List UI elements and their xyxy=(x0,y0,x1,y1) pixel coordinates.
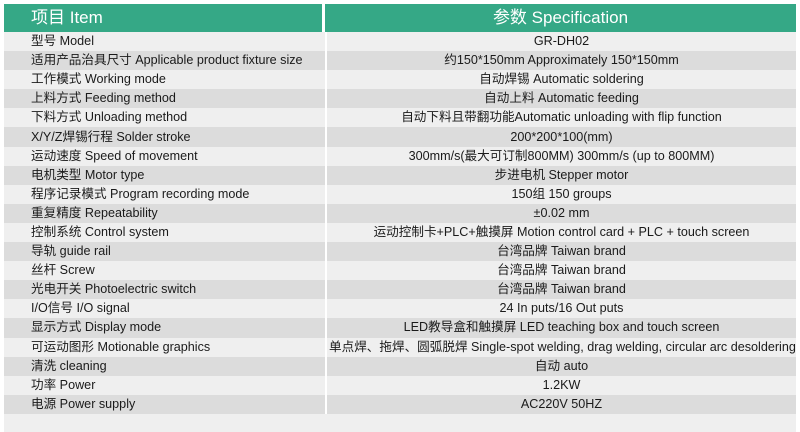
table-header-row: 项目 Item 参数 Specification xyxy=(4,4,796,32)
cell-specification: 步进电机 Stepper motor xyxy=(327,166,796,185)
cell-specification: 1.2KW xyxy=(327,376,796,395)
cell-item: 电机类型 Motor type xyxy=(4,166,325,185)
cell-item: 光电开关 Photoelectric switch xyxy=(4,280,325,299)
cell-specification: 自动 auto xyxy=(327,357,796,376)
column-header-specification: 参数 Specification xyxy=(325,4,796,32)
cell-item: 适用产品治具尺寸 Applicable product fixture size xyxy=(4,51,325,70)
cell-specification: 台湾品牌 Taiwan brand xyxy=(327,242,796,261)
cell-specification: 300mm/s(最大可订制800MM) 300mm/s (up to 800MM… xyxy=(327,147,796,166)
column-header-item: 项目 Item xyxy=(4,4,322,32)
cell-item: 运动速度 Speed of movement xyxy=(4,147,325,166)
table-row: 运动速度 Speed of movement300mm/s(最大可订制800MM… xyxy=(4,147,796,166)
cell-specification: 单点焊、拖焊、圆弧脱焊 Single-spot welding, drag we… xyxy=(327,338,796,357)
table-row: 显示方式 Display modeLED教导盒和触摸屏 LED teaching… xyxy=(4,318,796,337)
table-row: 功率 Power1.2KW xyxy=(4,376,796,395)
table-row: 程序记录模式 Program recording mode150组 150 gr… xyxy=(4,185,796,204)
cell-specification: 运动控制卡+PLC+触摸屏 Motion control card + PLC … xyxy=(327,223,796,242)
cell-specification: 台湾品牌 Taiwan brand xyxy=(327,280,796,299)
table-row: 控制系统 Control system运动控制卡+PLC+触摸屏 Motion … xyxy=(4,223,796,242)
cell-specification: LED教导盒和触摸屏 LED teaching box and touch sc… xyxy=(327,318,796,337)
cell-item: 下料方式 Unloading method xyxy=(4,108,325,127)
cell-item: 控制系统 Control system xyxy=(4,223,325,242)
cell-item: 功率 Power xyxy=(4,376,325,395)
cell-item: 导轨 guide rail xyxy=(4,242,325,261)
cell-item: 重复精度 Repeatability xyxy=(4,204,325,223)
cell-item: 工作模式 Working mode xyxy=(4,70,325,89)
cell-item: 可运动图形 Motionable graphics xyxy=(4,338,325,357)
table-row: 型号 ModelGR-DH02 xyxy=(4,32,796,51)
cell-item: X/Y/Z焊锡行程 Solder stroke xyxy=(4,128,325,147)
table-row: 上料方式 Feeding method自动上料 Automatic feedin… xyxy=(4,89,796,108)
cell-specification: 约150*150mm Approximately 150*150mm xyxy=(327,51,796,70)
table-row: 电源 Power supplyAC220V 50HZ xyxy=(4,395,796,414)
table-row: 工作模式 Working mode自动焊锡 Automatic solderin… xyxy=(4,70,796,89)
table-row: 可运动图形 Motionable graphics单点焊、拖焊、圆弧脱焊 Sin… xyxy=(4,338,796,357)
table-row: I/O信号 I/O signal24 In puts/16 Out puts xyxy=(4,299,796,318)
table-row: 清洗 cleaning自动 auto xyxy=(4,357,796,376)
cell-specification: 台湾品牌 Taiwan brand xyxy=(327,261,796,280)
cell-item: 显示方式 Display mode xyxy=(4,318,325,337)
cell-item: 丝杆 Screw xyxy=(4,261,325,280)
table-row: X/Y/Z焊锡行程 Solder stroke200*200*100(mm) xyxy=(4,127,796,146)
table-row: 适用产品治具尺寸 Applicable product fixture size… xyxy=(4,51,796,70)
cell-item: 程序记录模式 Program recording mode xyxy=(4,185,325,204)
cell-specification: 24 In puts/16 Out puts xyxy=(327,299,796,318)
table-row: 下料方式 Unloading method自动下料且带翻功能Automatic … xyxy=(4,108,796,127)
cell-specification: 自动下料且带翻功能Automatic unloading with flip f… xyxy=(327,108,796,127)
table-body: 型号 ModelGR-DH02适用产品治具尺寸 Applicable produ… xyxy=(4,32,796,414)
cell-specification: 200*200*100(mm) xyxy=(327,128,796,147)
cell-item: 上料方式 Feeding method xyxy=(4,89,325,108)
cell-item: 电源 Power supply xyxy=(4,395,325,414)
table-row: 光电开关 Photoelectric switch台湾品牌 Taiwan bra… xyxy=(4,280,796,299)
cell-specification: 自动焊锡 Automatic soldering xyxy=(327,70,796,89)
table-row: 电机类型 Motor type步进电机 Stepper motor xyxy=(4,166,796,185)
cell-item: 型号 Model xyxy=(4,32,325,51)
cell-specification: ±0.02 mm xyxy=(327,204,796,223)
cell-specification: AC220V 50HZ xyxy=(327,395,796,414)
cell-specification: 自动上料 Automatic feeding xyxy=(327,89,796,108)
cell-specification: GR-DH02 xyxy=(327,32,796,51)
table-row: 重复精度 Repeatability±0.02 mm xyxy=(4,204,796,223)
cell-specification: 150组 150 groups xyxy=(327,185,796,204)
table-row: 导轨 guide rail台湾品牌 Taiwan brand xyxy=(4,242,796,261)
specification-table: 项目 Item 参数 Specification 型号 ModelGR-DH02… xyxy=(4,4,796,400)
cell-item: I/O信号 I/O signal xyxy=(4,299,325,318)
cell-item: 清洗 cleaning xyxy=(4,357,325,376)
table-row: 丝杆 Screw台湾品牌 Taiwan brand xyxy=(4,261,796,280)
table-bottom-filler xyxy=(4,414,796,432)
